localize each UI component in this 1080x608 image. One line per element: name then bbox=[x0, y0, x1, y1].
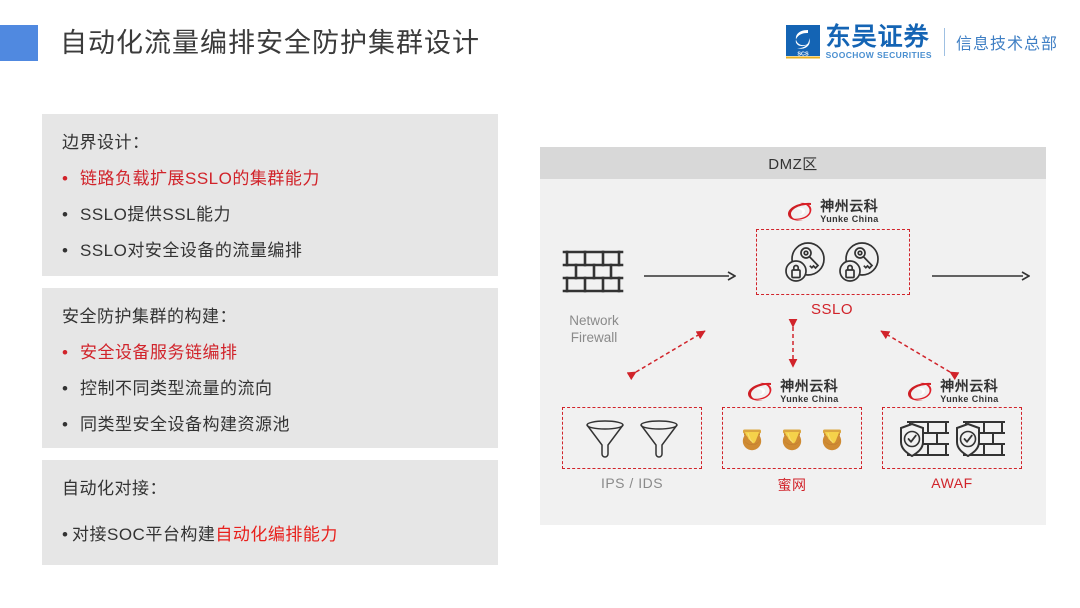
sslo-label: SSLO bbox=[734, 301, 930, 318]
vendor-name-cn: 神州云科 bbox=[820, 199, 878, 214]
box-heading: 边界设计： bbox=[62, 128, 478, 158]
bullet-text-plain: 对接SOC平台构建 bbox=[72, 525, 215, 544]
vendor-name-cn: 神州云科 bbox=[940, 379, 998, 394]
dmz-architecture-diagram: DMZ区 Network Firewal bbox=[540, 147, 1046, 525]
vendor-name-en: Yunke China bbox=[940, 394, 998, 405]
vendor-name-en: Yunke China bbox=[780, 394, 838, 405]
title-accent-bar bbox=[0, 25, 38, 61]
arrow-right-icon bbox=[644, 269, 736, 281]
bullet-text: 安全设备服务链编排 bbox=[80, 338, 478, 368]
shield-wall-icon bbox=[898, 417, 950, 459]
bullet-item: • 控制不同类型流量的流向 bbox=[62, 374, 478, 404]
bullet-item: • 安全设备服务链编排 bbox=[62, 338, 478, 368]
honeynet-device-box bbox=[722, 407, 862, 469]
node-label: AWAF bbox=[876, 475, 1028, 491]
firewall-label-line1: Network bbox=[548, 312, 640, 329]
bullet-marker: • bbox=[62, 374, 80, 404]
node-honeynet: 神州云科 Yunke China bbox=[716, 379, 868, 505]
honeypot-icon bbox=[739, 424, 765, 452]
bullet-marker: • bbox=[62, 410, 80, 440]
bullet-marker: • bbox=[62, 236, 80, 266]
brand-name-cn: 东吴证券 bbox=[826, 24, 932, 50]
brand-text: 东吴证券 SOOCHOW SECURITIES bbox=[826, 24, 932, 60]
node-ips-ids: IPS / IDS bbox=[556, 379, 708, 505]
sslo-device-box bbox=[756, 229, 910, 295]
content-box-cluster-build: 安全防护集群的构建： • 安全设备服务链编排 • 控制不同类型流量的流向 • 同… bbox=[42, 288, 498, 448]
brand-name-en: SOOCHOW SECURITIES bbox=[826, 50, 932, 60]
yunke-swirl-icon bbox=[785, 201, 815, 223]
yunke-swirl-icon bbox=[905, 381, 935, 403]
bullet-item: • SSLO提供SSL能力 bbox=[62, 200, 478, 230]
ips-ids-device-box bbox=[562, 407, 702, 469]
node-label: 蜜网 bbox=[716, 475, 868, 495]
soochow-logo-icon: SCS bbox=[786, 25, 820, 59]
honeypot-icon bbox=[779, 424, 805, 452]
brand-divider bbox=[944, 28, 945, 56]
funnel-icon bbox=[637, 418, 681, 458]
honeypot-icon bbox=[819, 424, 845, 452]
bullet-marker: • bbox=[62, 200, 80, 230]
yunke-swirl-icon bbox=[745, 381, 775, 403]
vendor-logo: 神州云科 Yunke China bbox=[716, 377, 868, 407]
vendor-logo: 神州云科 Yunke China bbox=[734, 197, 930, 227]
bullet-item: • 对接SOC平台构建自动化编排能力 bbox=[62, 520, 478, 550]
bullet-text: 对接SOC平台构建自动化编排能力 bbox=[72, 520, 478, 550]
vendor-name-cn: 神州云科 bbox=[780, 379, 838, 394]
content-box-boundary-design: 边界设计： • 链路负载扩展SSLO的集群能力 • SSLO提供SSL能力 • … bbox=[42, 114, 498, 276]
bullet-item: • SSLO对安全设备的流量编排 bbox=[62, 236, 478, 266]
firewall-label: Network Firewall bbox=[548, 312, 640, 346]
bullet-marker: • bbox=[62, 164, 80, 194]
awaf-device-box bbox=[882, 407, 1022, 469]
sslo-group: 神州云科 Yunke China bbox=[734, 197, 930, 347]
node-awaf: 神州云科 Yunke China bbox=[876, 379, 1028, 505]
shield-wall-icon bbox=[954, 417, 1006, 459]
funnel-icon bbox=[583, 418, 627, 458]
brick-wall-icon bbox=[562, 247, 624, 299]
bullet-item: • 同类型安全设备构建资源池 bbox=[62, 410, 478, 440]
arrow-right-icon bbox=[932, 269, 1030, 281]
bullet-text: 同类型安全设备构建资源池 bbox=[80, 410, 478, 440]
node-label: IPS / IDS bbox=[556, 475, 708, 491]
brand-lockup: SCS 东吴证券 SOOCHOW SECURITIES 信息技术总部 bbox=[786, 22, 1058, 62]
brand-department: 信息技术总部 bbox=[956, 30, 1058, 54]
bullet-marker: • bbox=[62, 338, 80, 368]
bullet-text: 链路负载扩展SSLO的集群能力 bbox=[80, 164, 478, 194]
bullet-text: SSLO提供SSL能力 bbox=[80, 200, 478, 230]
bullet-text: SSLO对安全设备的流量编排 bbox=[80, 236, 478, 266]
vendor-logo: 神州云科 Yunke China bbox=[876, 377, 1028, 407]
bullet-text: 控制不同类型流量的流向 bbox=[80, 374, 478, 404]
bullet-item: • 链路负载扩展SSLO的集群能力 bbox=[62, 164, 478, 194]
firewall-label-line2: Firewall bbox=[548, 329, 640, 346]
dmz-zone-title: DMZ区 bbox=[540, 147, 1046, 179]
page-title: 自动化流量编排安全防护集群设计 bbox=[60, 24, 480, 62]
vendor-name-en: Yunke China bbox=[820, 214, 878, 225]
key-lock-icon bbox=[837, 239, 883, 285]
page-header: 自动化流量编排安全防护集群设计 SCS 东吴证券 SOOCHOW SECURIT… bbox=[0, 0, 1080, 90]
bullet-text-highlight: 自动化编排能力 bbox=[215, 525, 338, 544]
box-heading: 安全防护集群的构建： bbox=[62, 302, 478, 332]
key-lock-icon bbox=[783, 239, 829, 285]
box-heading: 自动化对接： bbox=[62, 474, 478, 504]
content-box-automation: 自动化对接： • 对接SOC平台构建自动化编排能力 bbox=[42, 460, 498, 565]
bullet-marker: • bbox=[62, 520, 72, 550]
